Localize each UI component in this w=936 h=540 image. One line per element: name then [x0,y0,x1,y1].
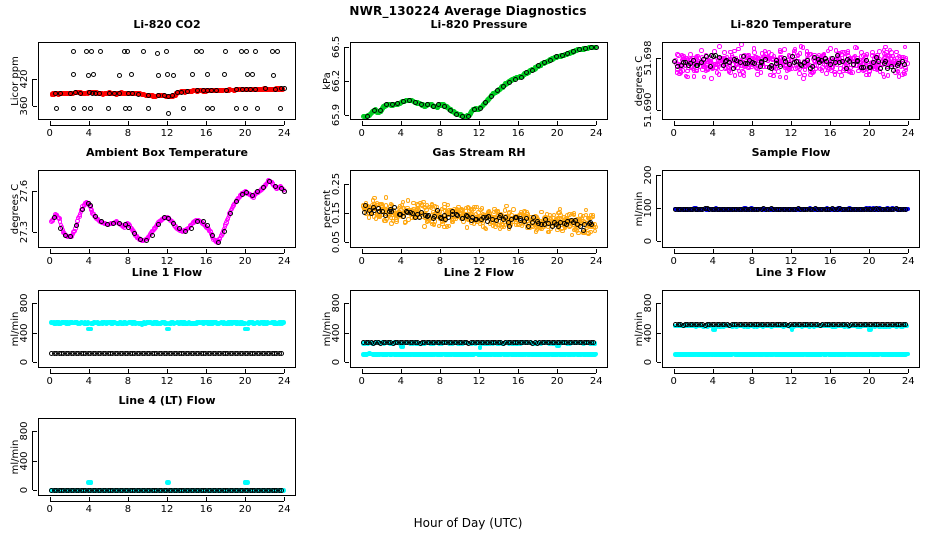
x-tick-label: 24 [590,128,603,139]
data-point [78,91,83,96]
data-point [472,107,477,112]
x-tick [128,249,129,253]
data-point [902,72,907,77]
data-point [861,65,866,70]
x-tick [284,369,285,373]
data-point [717,72,722,77]
y-tick [33,106,37,107]
x-tick [518,249,519,253]
x-tick [557,249,558,253]
y-tick [657,110,661,111]
y-tick [657,175,661,176]
data-point [165,72,170,77]
data-point [183,229,188,234]
data-point [273,87,278,92]
x-tick-label: 12 [161,376,174,387]
diagnostics-figure: NWR_130224 Average Diagnostics Hour of D… [0,0,936,540]
data-point [511,207,515,211]
data-point [480,206,484,210]
data-point [171,221,176,226]
data-point [234,106,239,111]
panel-li-820-pressure: Li-820 Pressure0481216202465.966.266.5kP… [312,18,624,142]
x-tick-label: 24 [278,128,291,139]
data-point [156,73,161,78]
data-point [699,48,704,53]
data-point [741,54,746,59]
data-point [572,211,576,215]
x-axis-line [674,125,909,126]
data-point [117,73,122,78]
y-axis-title: kPa [322,72,333,90]
x-tick [362,121,363,125]
data-point [867,65,872,70]
y-tick-label: 65.9 [331,104,342,126]
y-tick-label: 800 [19,294,30,313]
panel-line-2-flow: Line 2 Flow048121620240400800ml/min [312,266,624,390]
data-point [150,233,155,238]
data-point [205,106,210,111]
data-point [74,223,79,228]
x-axis-line [50,373,285,374]
x-tick-label: 16 [824,128,837,139]
x-tick [89,369,90,373]
data-point [903,45,908,50]
x-tick [713,121,714,125]
y-tick-label: 0 [19,359,30,365]
data-point [591,213,595,217]
data-point [432,223,436,227]
x-tick [869,249,870,253]
data-point [372,196,376,200]
data-point [871,60,876,65]
data-point [798,51,803,56]
data-point [245,327,250,332]
data-point [672,59,677,64]
x-tick [284,249,285,253]
x-tick [791,249,792,253]
data-point [702,75,707,80]
y-tick [345,333,349,334]
data-point [489,94,494,99]
data-point [784,75,789,80]
x-tick [89,249,90,253]
x-tick-label: 8 [125,128,131,139]
y-tick [33,232,37,233]
data-point [752,50,757,55]
y-axis-title: ml/min [634,192,645,227]
x-tick [206,121,207,125]
data-point [525,210,529,214]
panel-gas-stream-rh: Gas Stream RH048121620240.050.150.25perc… [312,146,624,270]
data-point [223,49,228,54]
data-point [905,352,910,357]
y-axis-title: ml/min [10,312,21,347]
data-point [483,100,488,105]
x-tick-label: 20 [239,376,252,387]
plot-area [662,42,920,120]
x-axis-line [362,125,597,126]
data-point [507,224,512,229]
y-tick-label: 0.05 [331,231,342,253]
data-point [275,49,280,54]
data-point [769,63,774,68]
x-tick [596,369,597,373]
data-point [58,91,63,96]
data-point [736,47,741,52]
plot-area [662,290,920,368]
data-point [828,62,833,67]
data-point [733,73,738,78]
data-point [778,64,783,69]
data-point [593,225,597,229]
data-point [810,64,815,69]
data-point [752,61,757,66]
data-point [58,226,63,231]
data-point [89,49,94,54]
data-point [244,49,249,54]
x-tick [245,369,246,373]
data-point [88,203,93,208]
data-point [216,240,221,245]
data-point [261,185,266,190]
data-point [271,73,276,78]
data-point [166,327,171,332]
x-tick [401,121,402,125]
data-point [155,51,160,56]
y-tick [345,184,349,185]
panel-title: Li-820 CO2 [38,18,296,31]
plot-area [38,290,296,368]
x-tick [167,249,168,253]
data-point [222,72,227,77]
x-tick-label: 16 [512,376,525,387]
y-tick [657,58,661,59]
x-tick-label: 24 [902,128,915,139]
data-point [195,219,200,224]
y-axis-line [656,58,657,110]
data-point [739,42,744,47]
x-tick [557,369,558,373]
panel-ambient-box-temperature: Ambient Box Temperature0481216202427.327… [0,146,312,270]
data-point [805,58,810,63]
x-tick-label: 16 [200,376,213,387]
data-point [504,204,508,208]
data-point [524,216,529,221]
data-point [886,73,891,78]
data-point [273,184,278,189]
x-tick [791,121,792,125]
panel-title: Gas Stream RH [350,146,608,159]
data-point [717,55,722,60]
data-point [222,229,227,234]
x-tick [557,121,558,125]
x-tick [128,369,129,373]
x-tick-label: 20 [239,128,252,139]
x-tick [596,249,597,253]
data-point [709,76,714,81]
y-axis-title: degrees C [634,56,645,106]
x-tick-label: 24 [590,376,603,387]
data-point [68,234,73,239]
panel-title: Sample Flow [662,146,920,159]
data-point [466,114,471,119]
plot-area [350,170,608,248]
y-tick [33,362,37,363]
data-point [146,106,151,111]
data-point [91,72,96,77]
y-tick [345,362,349,363]
x-tick [89,121,90,125]
y-tick [345,213,349,214]
panel-title: Li-820 Pressure [350,18,608,31]
data-point [883,59,888,64]
y-tick-label: 0 [643,238,654,244]
data-point [245,72,250,77]
data-point [106,106,111,111]
plot-area [662,170,920,248]
y-tick [657,208,661,209]
y-axis-line [32,191,33,232]
data-point [539,210,543,214]
data-point [570,233,574,237]
data-point [224,88,229,93]
y-tick [33,303,37,304]
data-point [253,49,258,54]
panel-title: Ambient Box Temperature [38,146,296,159]
data-point [250,193,255,198]
data-point [407,98,412,103]
data-point [255,106,260,111]
data-point [210,106,215,111]
x-tick-label: 12 [473,128,486,139]
data-point [367,215,371,219]
x-tick [206,369,207,373]
y-tick [345,242,349,243]
panel-title: Li-820 Temperature [662,18,920,31]
x-tick [206,249,207,253]
data-point [199,49,204,54]
panel-line-1-flow: Line 1 Flow048121620240400800ml/min [0,266,312,390]
data-point [692,74,697,79]
x-tick [50,121,51,125]
y-tick [33,333,37,334]
data-point [554,54,559,59]
data-point [117,221,122,226]
data-point [406,198,410,202]
panel-title: Line 2 Flow [350,266,608,279]
data-point [282,86,287,91]
panel-title: Line 1 Flow [38,266,296,279]
figure-xlabel: Hour of Day (UTC) [0,516,936,530]
panel-li-820-temperature: Li-820 Temperature0481216202451.69051.69… [624,18,936,142]
panel-sample-flow: Sample Flow048121620240100200ml/min [624,146,936,270]
x-tick [50,249,51,253]
y-axis-title: Licor ppm [10,56,21,106]
x-tick [245,121,246,125]
data-point [503,215,508,220]
data-point [362,210,367,215]
x-tick-label: 4 [86,128,92,139]
data-point [495,88,500,93]
data-point [759,70,764,75]
y-tick [345,303,349,304]
x-axis-line [50,253,285,254]
x-tick-label: 20 [863,128,876,139]
data-point [839,73,844,78]
x-tick-label: 4 [86,376,92,387]
y-tick [33,191,37,192]
x-tick [245,249,246,253]
data-point [571,49,576,54]
data-point [560,53,565,58]
data-point [166,216,171,221]
y-axis-title: percent [322,190,333,228]
x-tick-label: 8 [749,128,755,139]
x-tick-label: 4 [710,128,716,139]
data-point [727,60,732,65]
x-axis-line [50,125,285,126]
x-tick [362,369,363,373]
data-point [209,88,214,93]
x-tick [518,369,519,373]
data-point [129,72,134,77]
data-point [864,58,869,63]
data-point [181,106,186,111]
data-point [454,112,459,117]
data-point [117,91,122,96]
y-tick [33,79,37,80]
y-tick [657,241,661,242]
data-point [797,71,802,76]
data-point [378,108,383,113]
data-point [250,72,255,77]
x-tick-label: 20 [551,376,564,387]
data-point [156,93,161,98]
data-point [478,106,483,111]
data-point [593,229,597,233]
y-tick-label: 66.5 [331,35,342,57]
data-point [394,217,398,221]
data-point [878,66,883,71]
data-point [93,214,98,219]
x-tick [674,121,675,125]
data-point [865,52,870,57]
data-point [465,225,469,229]
data-point [460,114,465,119]
data-point [156,222,161,227]
x-tick-label: 8 [125,376,131,387]
plot-area [38,170,296,248]
data-point [717,44,722,49]
data-point [542,60,547,65]
data-point [73,90,78,95]
data-point [234,199,239,204]
x-tick [518,121,519,125]
data-point [278,106,283,111]
x-tick [440,369,441,373]
data-point [691,58,696,63]
data-point [171,73,176,78]
x-tick [362,249,363,253]
x-tick-label: 0 [671,128,677,139]
data-point [484,227,488,231]
data-point [501,84,506,89]
x-tick [50,369,51,373]
data-point [228,211,233,216]
data-point [530,68,535,73]
data-point [891,68,896,73]
data-point [708,64,713,69]
data-point [279,351,284,356]
y-tick-label: 0 [331,359,342,365]
figure-title: NWR_130224 Average Diagnostics [0,4,936,18]
x-tick [908,249,909,253]
data-point [902,62,907,67]
data-point [80,207,85,212]
data-point [787,62,792,67]
data-point [507,80,512,85]
x-tick [830,121,831,125]
data-point [54,106,59,111]
x-tick [479,121,480,125]
data-point [164,49,169,54]
x-tick [479,249,480,253]
x-tick-label: 8 [437,376,443,387]
x-tick [284,121,285,125]
data-point [731,66,736,71]
x-tick-label: 4 [398,376,404,387]
data-point [98,49,103,54]
data-point [548,58,553,63]
x-tick [128,121,129,125]
y-axis-line [32,79,33,107]
data-point [189,226,194,231]
panel-line-3-flow: Line 3 Flow048121620240400800ml/min [624,266,936,390]
plot-area [350,42,608,120]
x-tick [401,249,402,253]
x-tick [167,121,168,125]
y-tick-label: 800 [331,294,342,313]
x-tick [908,121,909,125]
x-tick-label: 8 [437,128,443,139]
x-axis-line [362,373,597,374]
data-point [519,75,524,80]
y-tick [345,47,349,48]
data-point [790,54,795,59]
data-point [446,203,450,207]
data-point [384,195,388,199]
data-point [205,223,210,228]
data-point [593,352,598,357]
x-tick [479,369,480,373]
data-point [282,189,287,194]
data-point [76,216,80,220]
data-point [594,45,599,50]
data-point [125,49,130,54]
y-tick [345,115,349,116]
data-point [89,327,94,332]
data-point [694,69,699,74]
data-point [883,45,888,50]
data-point [82,106,87,111]
data-point [72,229,76,233]
plot-area [38,42,296,120]
data-point [243,106,248,111]
x-tick-label: 4 [398,128,404,139]
x-axis-line [362,253,597,254]
data-point [190,72,195,77]
data-point [417,215,422,220]
